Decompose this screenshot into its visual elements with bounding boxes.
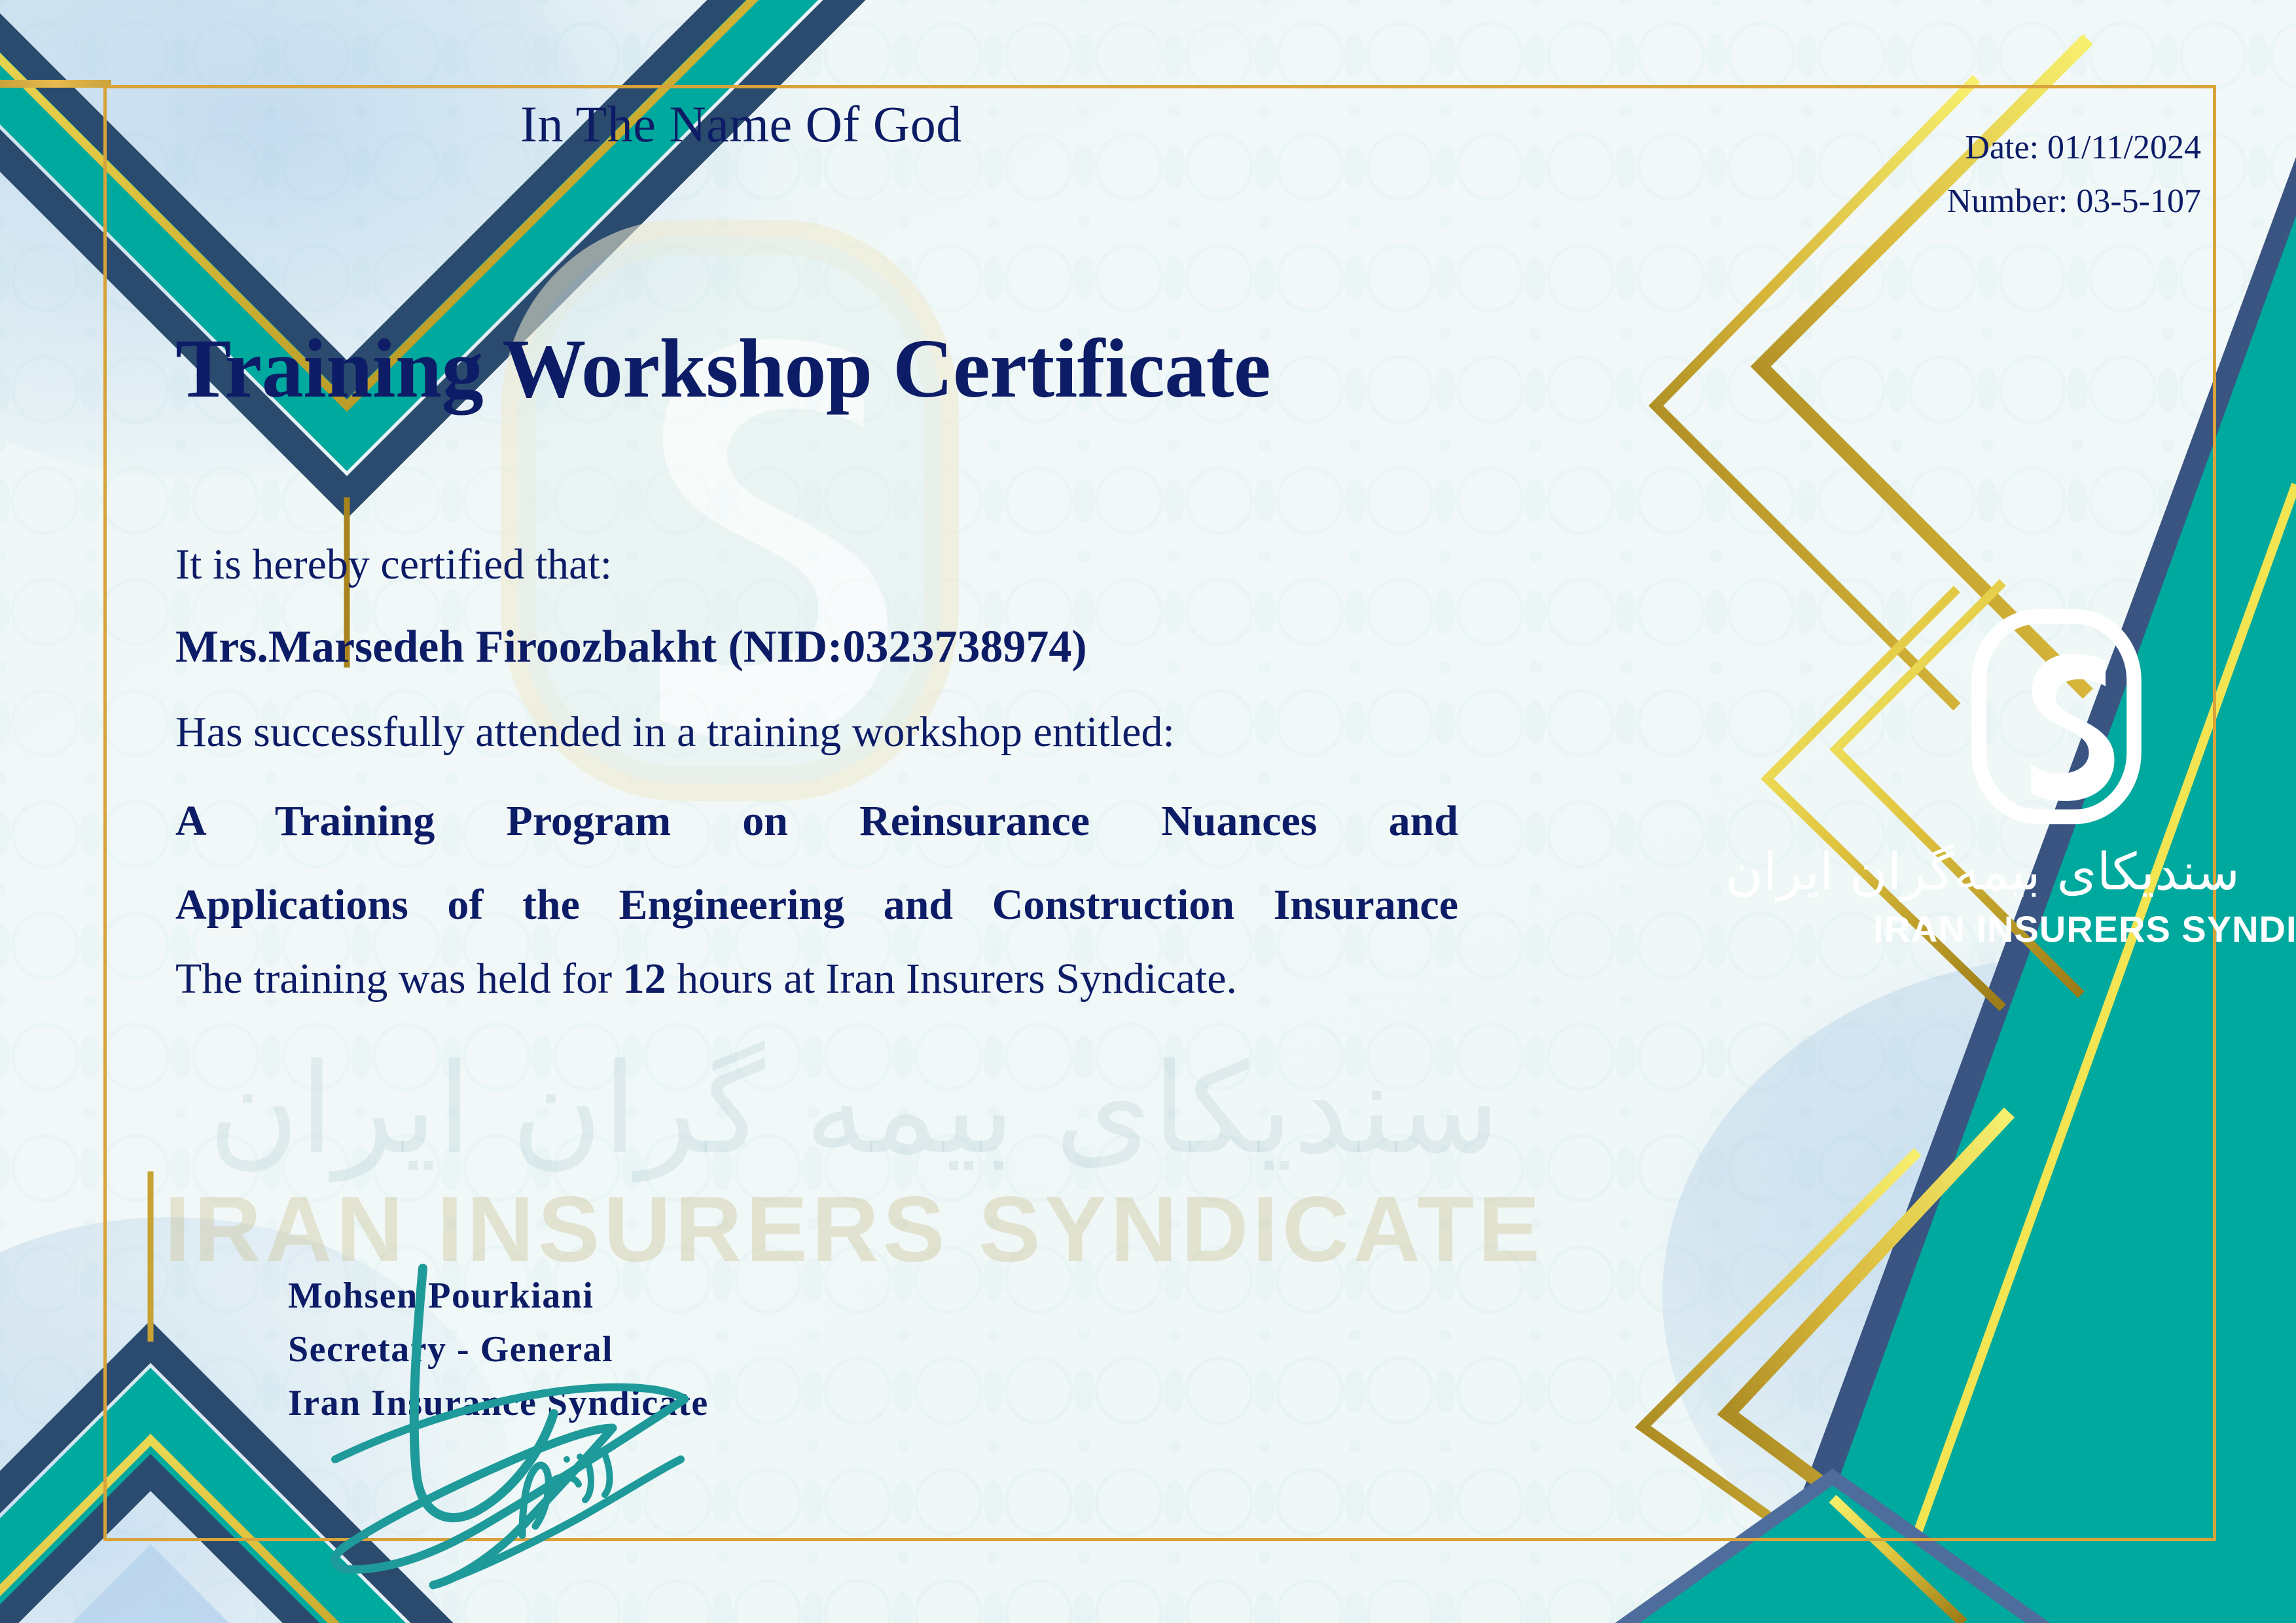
handwritten-signature: [262, 1263, 851, 1590]
certificate-page: سندیکای بیمه گران ایران IRAN INSURERS SY…: [0, 0, 2296, 1623]
page-title: Training Workshop Certificate: [175, 321, 1270, 417]
certificate-number: Number: 03-5-107: [1947, 175, 2201, 228]
hours-value: 12: [623, 955, 666, 1003]
hours-suffix: hours at Iran Insurers Syndicate.: [666, 955, 1237, 1003]
hours-prefix: The training was held for: [175, 955, 623, 1003]
issue-date: Date: 01/11/2024: [1947, 121, 2201, 175]
logo-persian-name: سندیکای بیمه‌گران ایران: [1873, 845, 2240, 901]
workshop-title-line-2: Applications of the Engineering and Cons…: [175, 874, 1458, 936]
invocation-heading: In The Name Of God: [520, 95, 962, 154]
syndicate-logo-lockup: سندیکای بیمه‌گران ایران IRAN INSURERS SY…: [1873, 609, 2240, 950]
hours-line: The training was held for 12 hours at Ir…: [175, 957, 1458, 1001]
certificate-meta: Date: 01/11/2024 Number: 03-5-107: [1947, 121, 2201, 228]
workshop-title-line-1: A Training Program on Reinsurance Nuance…: [175, 791, 1458, 852]
syndicate-emblem-icon: [1958, 609, 2155, 825]
logo-english-name: IRAN INSURERS SYNDICATE: [1873, 908, 2240, 950]
recipient-name: Mrs.Marsedeh Firoozbakht (NID:0323738974…: [175, 624, 1458, 670]
certificate-body: It is hereby certified that: Mrs.Marsede…: [175, 543, 1458, 1001]
attended-line: Has successfully attended in a training …: [175, 711, 1458, 754]
certified-line: It is hereby certified that:: [175, 543, 1458, 586]
